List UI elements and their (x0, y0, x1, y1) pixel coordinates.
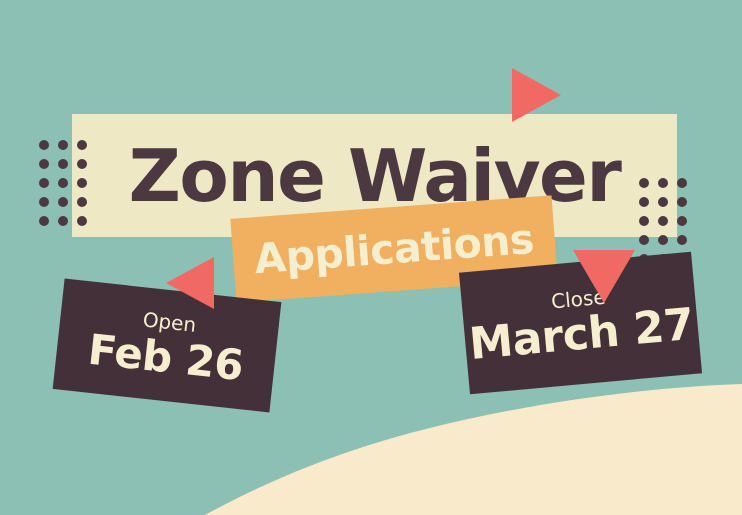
dot (58, 216, 68, 226)
dot (39, 216, 49, 226)
close-card-date: March 27 (467, 303, 695, 367)
dot (677, 197, 687, 207)
dot (58, 178, 68, 188)
triangle-right-icon (512, 68, 561, 122)
dot (677, 178, 687, 188)
dot (58, 159, 68, 169)
triangle-left-icon (166, 257, 214, 309)
triangle-down-icon (573, 250, 635, 303)
poster-canvas: Zone Waiver Applications Open Feb 26 Clo… (0, 0, 742, 515)
dot (58, 197, 68, 207)
dot (677, 235, 687, 245)
dot (677, 216, 687, 226)
dot (39, 197, 49, 207)
open-card-date: Feb 26 (86, 329, 245, 388)
dot (39, 178, 49, 188)
dot (39, 159, 49, 169)
dot (58, 140, 68, 150)
dot (39, 140, 49, 150)
